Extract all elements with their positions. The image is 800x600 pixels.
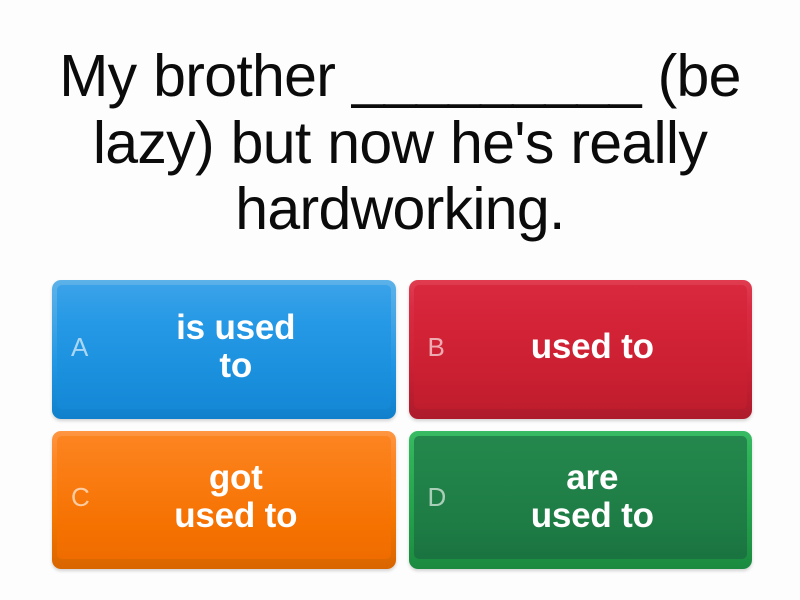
answer-label-d: are used to bbox=[493, 459, 668, 535]
answer-option-b[interactable]: B used to bbox=[409, 280, 753, 419]
answer-letter-c: C bbox=[71, 484, 90, 510]
answer-option-a[interactable]: A is used to bbox=[52, 280, 396, 419]
answer-option-c[interactable]: C got used to bbox=[52, 431, 396, 570]
question-text: My brother _________ (be lazy) but now h… bbox=[22, 43, 778, 243]
answer-option-a-surface: A is used to bbox=[57, 285, 391, 409]
answer-label-c: got used to bbox=[136, 459, 311, 535]
answer-letter-a: A bbox=[71, 334, 88, 360]
answer-option-c-surface: C got used to bbox=[57, 436, 391, 560]
quiz-container: My brother _________ (be lazy) but now h… bbox=[0, 0, 800, 600]
answer-options-grid: A is used to B used to C got used to D a… bbox=[0, 280, 800, 600]
answer-letter-d: D bbox=[428, 484, 447, 510]
answer-option-d-surface: D are used to bbox=[414, 436, 748, 560]
answer-option-b-surface: B used to bbox=[414, 285, 748, 409]
answer-label-b: used to bbox=[493, 328, 668, 366]
answer-option-d[interactable]: D are used to bbox=[409, 431, 753, 570]
answer-letter-b: B bbox=[428, 334, 445, 360]
question-area: My brother _________ (be lazy) but now h… bbox=[0, 0, 800, 280]
answer-label-a: is used to bbox=[138, 309, 309, 385]
